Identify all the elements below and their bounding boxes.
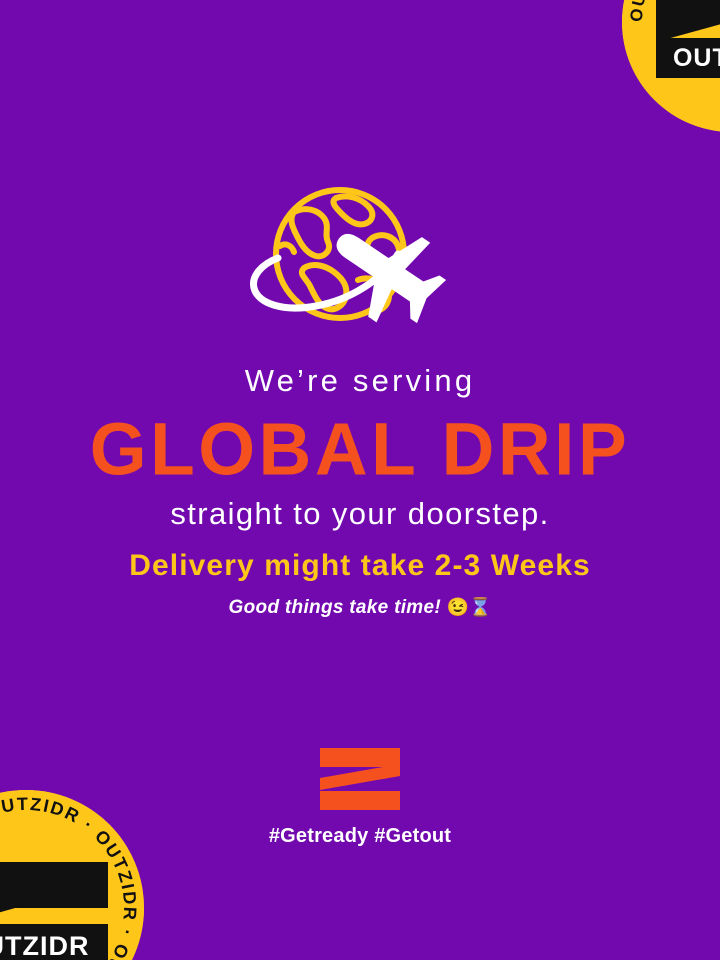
subtitle-text: straight to your doorstep. — [0, 494, 720, 534]
badge-wordmark: OUTZIDR — [673, 44, 720, 72]
globe-with-airplane-illustration — [232, 176, 494, 346]
badge-wordmark: OUTZIDR — [0, 931, 89, 960]
outzidr-seal-bottom-left: OUTZIDR · OUTZIDR · OUTZIDR · OUTZIDR · … — [0, 790, 144, 960]
z-monogram-icon — [320, 748, 400, 810]
outzidr-seal-top-right: OUTZIDR · OUTZIDR · OUTZIDR · OUTZIDR · … — [622, 0, 720, 132]
delivery-headline: Delivery might take 2-3 Weeks — [0, 546, 720, 586]
delivery-note-block: Delivery might take 2-3 Weeks Good thing… — [0, 546, 720, 623]
delivery-subline: Good things take time! 😉⌛ — [0, 592, 720, 623]
winking-face-icon: 😉 — [447, 597, 469, 617]
page-title: GLOBAL DRIP — [0, 406, 720, 493]
headline-block: We’re serving GLOBAL DRIP straight to yo… — [0, 360, 720, 534]
promo-poster: OUTZIDR · OUTZIDR · OUTZIDR · OUTZIDR · … — [0, 0, 720, 960]
hourglass-icon: ⌛ — [469, 597, 491, 617]
delivery-subline-text: Good things take time! — [229, 597, 441, 618]
eyebrow-text: We’re serving — [0, 360, 720, 402]
